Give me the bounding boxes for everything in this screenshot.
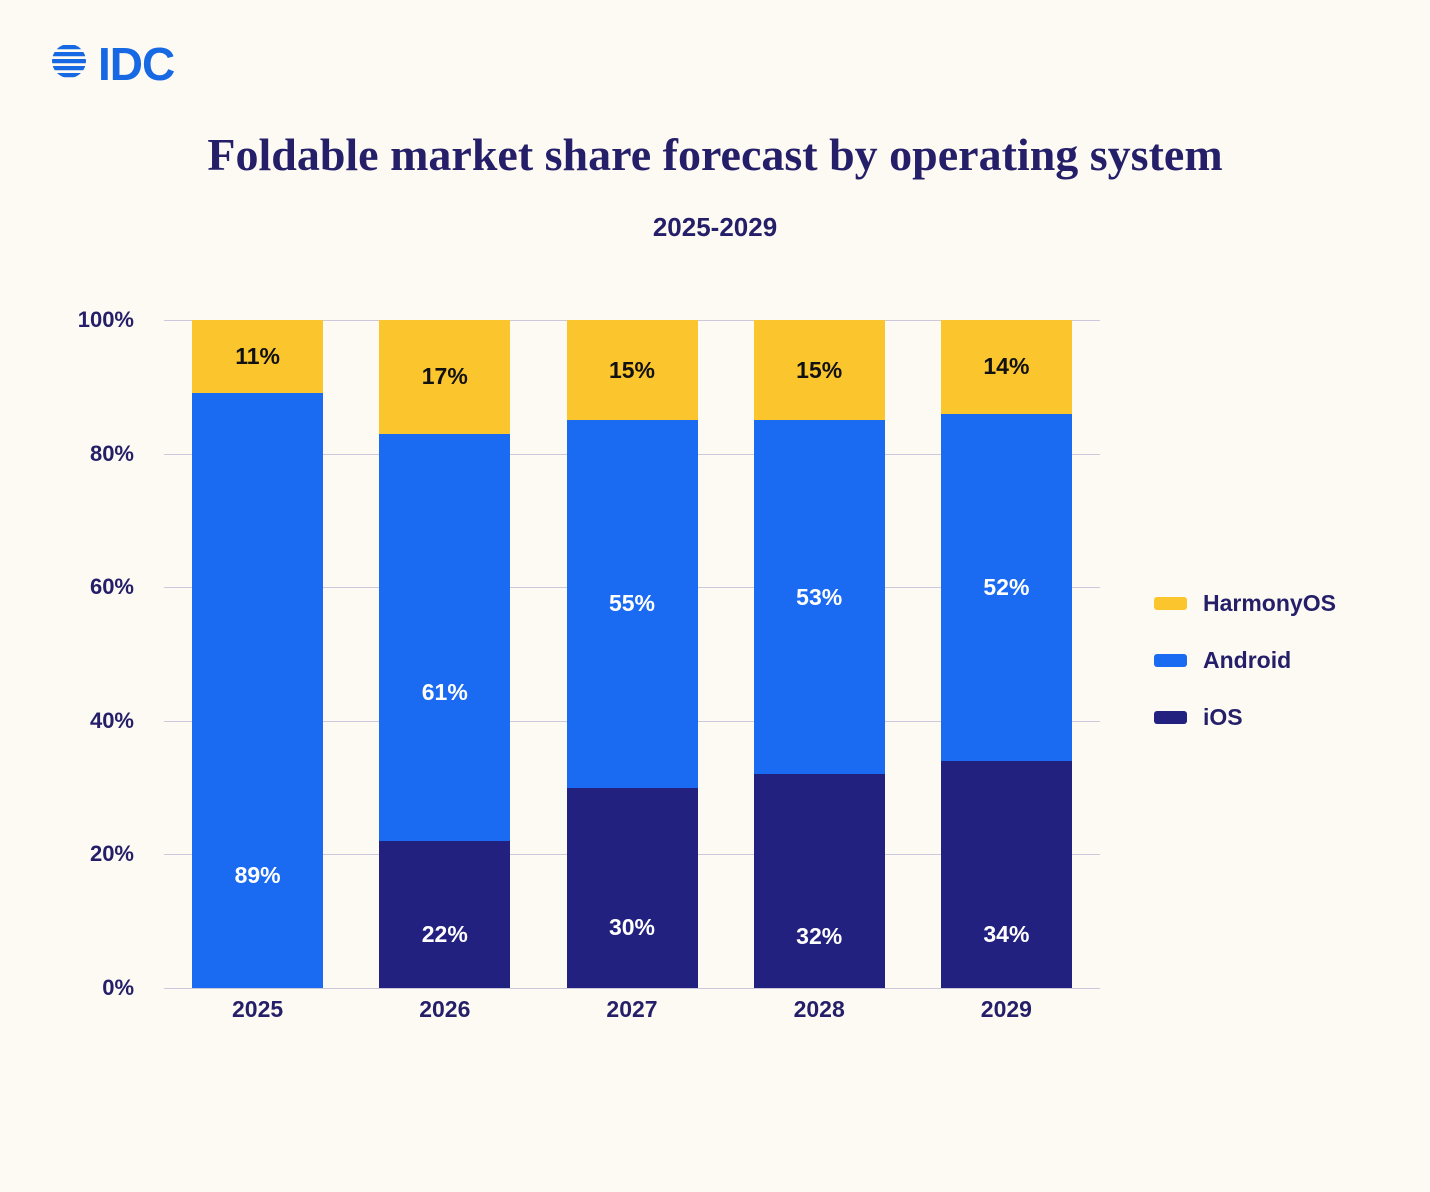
y-axis-tick-label: 20% bbox=[90, 841, 134, 867]
bar-segment[interactable]: 15% bbox=[754, 320, 885, 420]
idc-wordmark: IDC bbox=[98, 41, 174, 87]
bar-segment-label: 61% bbox=[422, 681, 468, 704]
bar-segment[interactable]: 30% bbox=[567, 788, 698, 988]
bar-segment[interactable]: 22% bbox=[379, 841, 510, 988]
bar-stack[interactable]: 17%61%22% bbox=[379, 320, 510, 988]
y-axis-tick-label: 40% bbox=[90, 708, 134, 734]
bar-segment[interactable]: 32% bbox=[754, 774, 885, 988]
x-axis-tick-label: 2028 bbox=[794, 996, 845, 1023]
legend-label: HarmonyOS bbox=[1203, 590, 1336, 617]
idc-globe-icon bbox=[44, 36, 94, 91]
y-axis-tick-label: 100% bbox=[78, 307, 134, 333]
x-axis-tick-label: 2025 bbox=[232, 996, 283, 1023]
bar-segment-label: 52% bbox=[983, 576, 1029, 599]
bar-stack[interactable]: 15%53%32% bbox=[754, 320, 885, 988]
bar-segment-label: 34% bbox=[983, 923, 1029, 946]
legend-swatch bbox=[1154, 654, 1187, 667]
legend-swatch bbox=[1154, 711, 1187, 724]
bar-segment[interactable]: 11% bbox=[192, 320, 323, 393]
bar-segment-label: 17% bbox=[422, 365, 468, 388]
bar-segment[interactable]: 52% bbox=[941, 414, 1072, 761]
chart-plot-area: 11%89%17%61%22%15%55%30%15%53%32%14%52%3… bbox=[164, 320, 1100, 988]
legend-label: Android bbox=[1203, 647, 1291, 674]
chart-legend: HarmonyOSAndroidiOS bbox=[1154, 590, 1336, 731]
bar-segment-label: 15% bbox=[609, 359, 655, 382]
x-axis-tick-label: 2027 bbox=[606, 996, 657, 1023]
bar-stack[interactable]: 14%52%34% bbox=[941, 320, 1072, 988]
legend-item[interactable]: HarmonyOS bbox=[1154, 590, 1336, 617]
bar-segment[interactable]: 34% bbox=[941, 761, 1072, 988]
idc-logo: IDC bbox=[44, 36, 174, 91]
page-subtitle: 2025-2029 bbox=[0, 212, 1430, 243]
bar-segment-label: 15% bbox=[796, 359, 842, 382]
bar-segment[interactable]: 14% bbox=[941, 320, 1072, 414]
bar-segment-label: 22% bbox=[422, 923, 468, 946]
page-title: Foldable market share forecast by operat… bbox=[0, 128, 1430, 181]
y-axis-tick-label: 60% bbox=[90, 574, 134, 600]
legend-item[interactable]: Android bbox=[1154, 647, 1336, 674]
bar-segment[interactable]: 17% bbox=[379, 320, 510, 434]
y-axis-tick-label: 80% bbox=[90, 441, 134, 467]
legend-swatch bbox=[1154, 597, 1187, 610]
bar-segment[interactable]: 61% bbox=[379, 434, 510, 841]
x-axis-tick-label: 2029 bbox=[981, 996, 1032, 1023]
bar-segment[interactable]: 53% bbox=[754, 420, 885, 774]
bar-segment-label: 11% bbox=[235, 345, 280, 368]
bar-segment-label: 89% bbox=[235, 864, 281, 887]
bar-stack[interactable]: 15%55%30% bbox=[567, 320, 698, 988]
bar-segment-label: 32% bbox=[796, 925, 842, 948]
legend-item[interactable]: iOS bbox=[1154, 704, 1336, 731]
x-axis: 20252026202720282029 bbox=[164, 988, 1100, 1038]
legend-label: iOS bbox=[1203, 704, 1243, 731]
bar-segment-label: 30% bbox=[609, 916, 655, 939]
bar-segment[interactable]: 15% bbox=[567, 320, 698, 420]
bar-segment-label: 14% bbox=[983, 355, 1029, 378]
bar-stack[interactable]: 11%89% bbox=[192, 320, 323, 988]
bar-segment-label: 55% bbox=[609, 592, 655, 615]
y-axis-tick-label: 0% bbox=[102, 975, 134, 1001]
bar-segment-label: 53% bbox=[796, 586, 842, 609]
y-axis: 100%80%60%40%20%0% bbox=[0, 320, 148, 988]
x-axis-tick-label: 2026 bbox=[419, 996, 470, 1023]
bar-segment[interactable]: 55% bbox=[567, 420, 698, 787]
bar-segment[interactable]: 89% bbox=[192, 393, 323, 988]
